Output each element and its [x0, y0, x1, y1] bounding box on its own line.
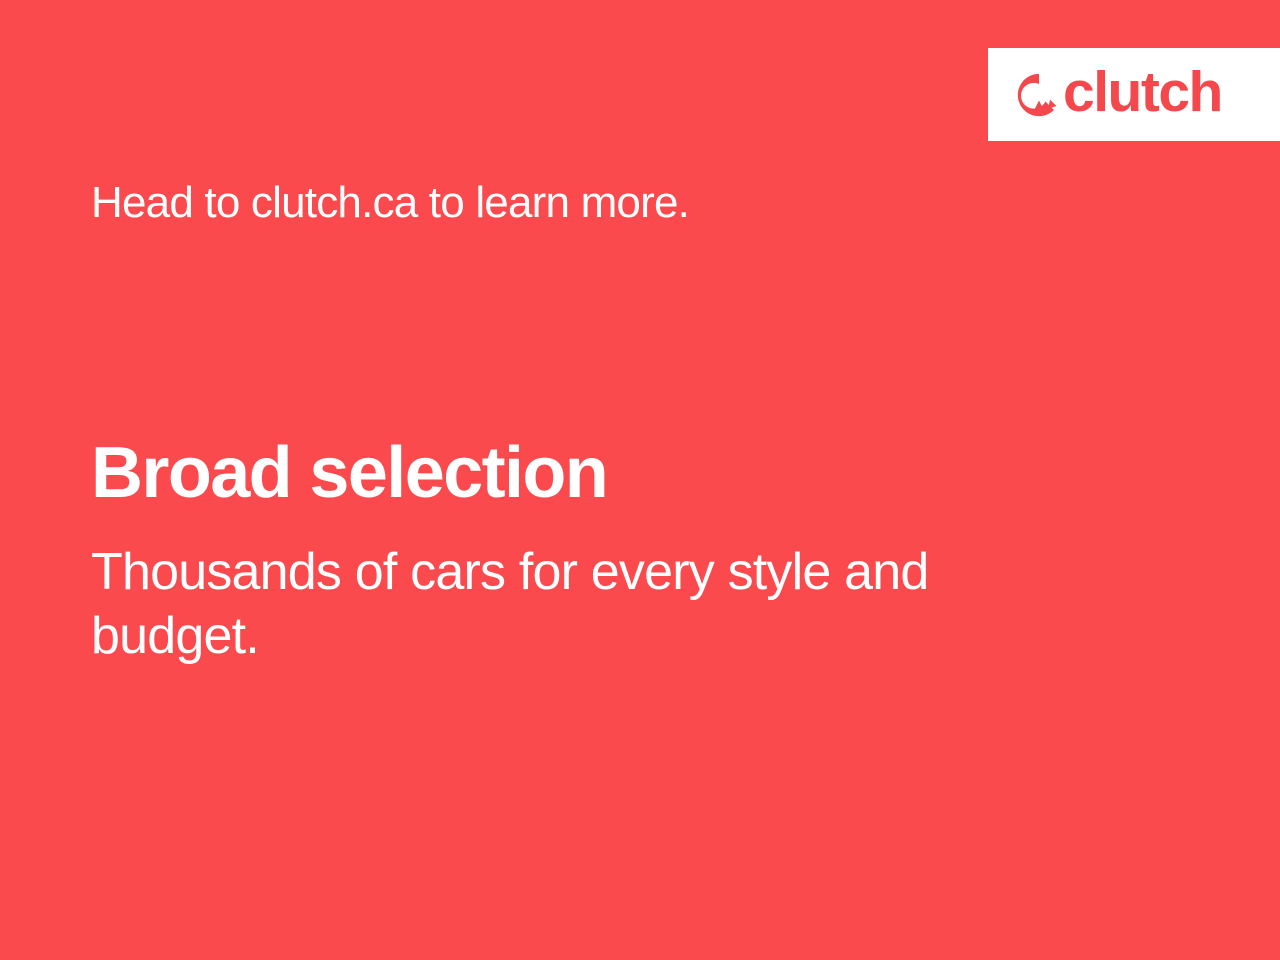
subheadline-text: Thousands of cars for every style and bu…	[91, 541, 1031, 669]
clutch-wordmark: clutch	[1063, 64, 1222, 121]
page-title: Broad selection	[91, 434, 607, 513]
eyebrow-text: Head to clutch.ca to learn more.	[91, 178, 689, 229]
slide-canvas: clutch Head to clutch.ca to learn more. …	[0, 0, 1280, 960]
brand-logo-plate[interactable]: clutch	[988, 48, 1280, 141]
clutch-c-monogram-icon	[1016, 72, 1062, 118]
clutch-logo-lockup[interactable]: clutch	[1016, 67, 1222, 123]
